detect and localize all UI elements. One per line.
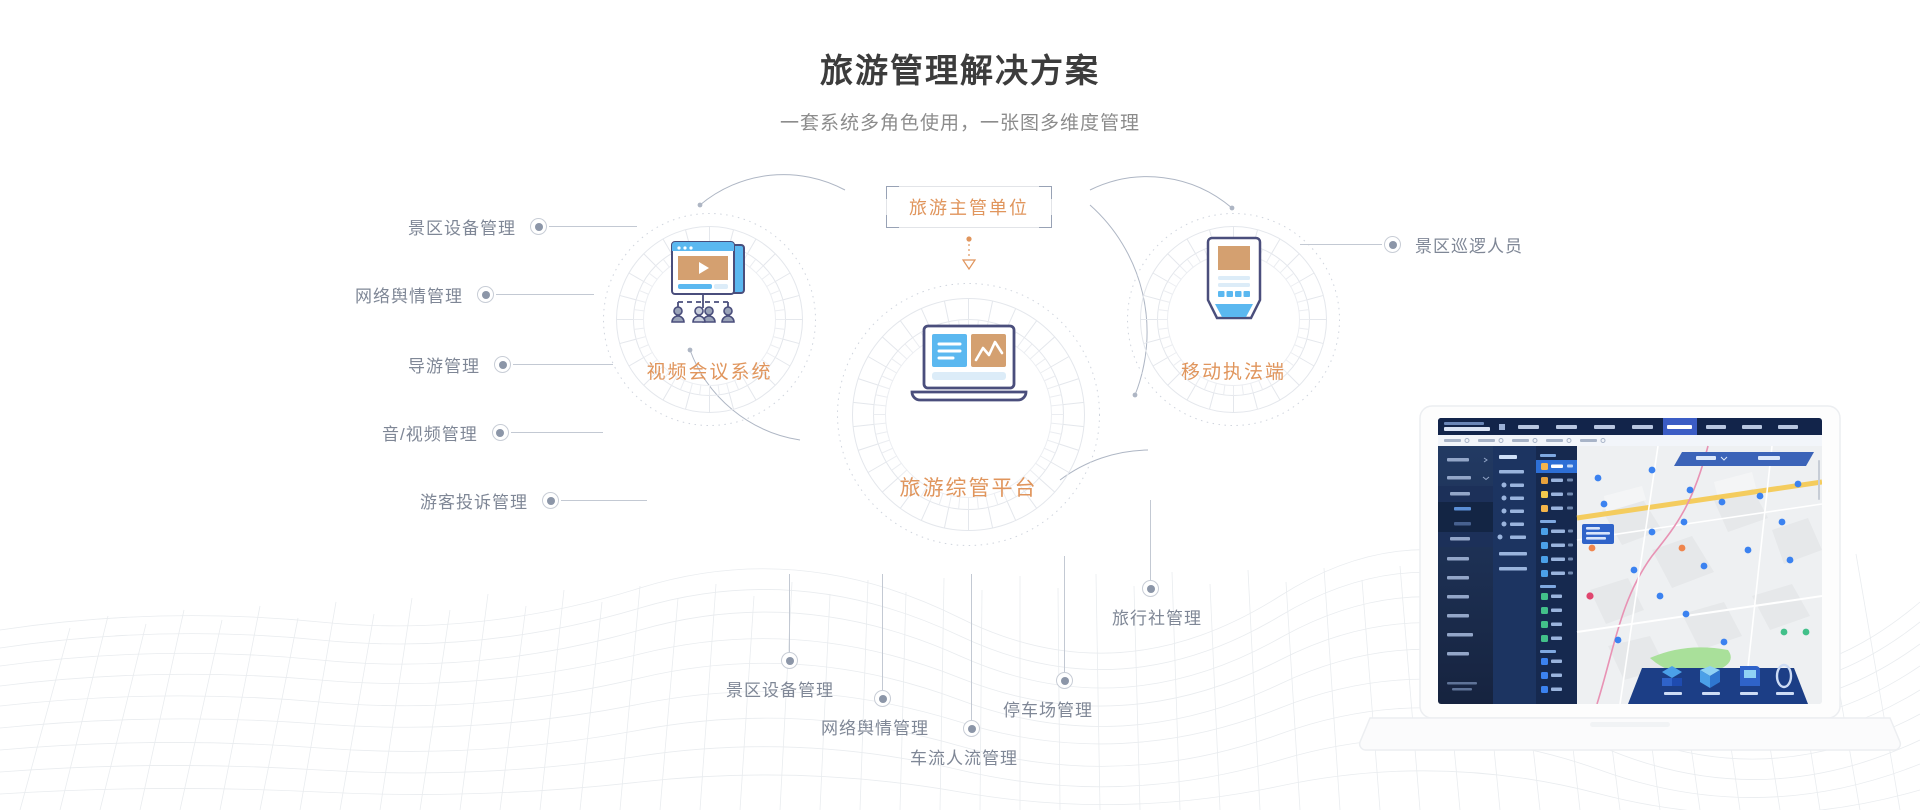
node-left-4[interactable]: 游客投诉管理 — [420, 488, 647, 513]
laptop-dashboard-icon — [908, 322, 1030, 414]
laptop-product-mockup — [1352, 400, 1908, 768]
node-label: 导游管理 — [408, 352, 480, 377]
hub-video-conference: 视频会议系统 — [602, 212, 817, 427]
laptop-trackpad-notch — [1590, 722, 1670, 727]
node-dot-icon — [494, 356, 511, 373]
leader-line — [496, 294, 594, 295]
leader-line — [549, 226, 637, 227]
dashboard-sidebar — [1438, 446, 1493, 704]
solution-diagram-page: 旅游管理解决方案 一套系统多角色使用，一张图多维度管理 旅游主管单位 — [0, 0, 1920, 810]
leader-line-vertical — [971, 574, 972, 720]
node-left-1[interactable]: 网络舆情管理 — [355, 282, 594, 307]
node-dot-icon — [1384, 236, 1401, 253]
node-label: 停车场管理 — [1003, 696, 1093, 721]
hub-tourism-platform: 旅游综管平台 — [836, 282, 1101, 547]
node-bottom-4[interactable]: 旅行社管理 — [1142, 500, 1262, 610]
leader-line-vertical — [1150, 500, 1151, 580]
node-label: 网络舆情管理 — [355, 282, 463, 307]
leader-line-vertical — [882, 574, 883, 690]
video-window-icon — [664, 240, 756, 326]
leader-line-vertical — [789, 574, 790, 652]
node-dot-icon — [492, 424, 509, 441]
node-dot-icon — [874, 690, 891, 707]
node-left-2[interactable]: 导游管理 — [408, 352, 613, 377]
node-label: 车流人流管理 — [910, 744, 1018, 769]
leader-line — [513, 364, 613, 365]
node-dot-icon — [963, 720, 980, 737]
node-label: 景区设备管理 — [726, 676, 834, 701]
hub-caption-mobile-enforcement: 移动执法端 — [1126, 357, 1341, 384]
node-label: 网络舆情管理 — [821, 714, 929, 739]
node-left-3[interactable]: 音/视频管理 — [382, 420, 603, 445]
handheld-terminal-icon — [1198, 234, 1270, 334]
leader-line — [1300, 244, 1382, 245]
node-dot-icon — [1142, 580, 1159, 597]
page-title: 旅游管理解决方案 — [0, 44, 1920, 92]
node-right-0[interactable]: 景区巡逻人员 — [1300, 232, 1523, 257]
hub-caption-video-conference: 视频会议系统 — [602, 357, 817, 384]
dashboard-screenshot — [1438, 418, 1822, 704]
node-label: 景区巡逻人员 — [1415, 232, 1523, 257]
node-label: 游客投诉管理 — [420, 488, 528, 513]
leader-line — [561, 500, 647, 501]
node-dot-icon — [1056, 672, 1073, 689]
node-left-0[interactable]: 景区设备管理 — [408, 214, 637, 239]
hub-caption-tourism-platform: 旅游综管平台 — [836, 472, 1101, 502]
leader-line-vertical — [1064, 556, 1065, 672]
node-label: 景区设备管理 — [408, 214, 516, 239]
node-dot-icon — [781, 652, 798, 669]
node-label: 旅行社管理 — [1112, 604, 1202, 629]
node-dot-icon — [477, 286, 494, 303]
leader-line — [511, 432, 603, 433]
map-control-bar — [1674, 452, 1814, 466]
node-label: 音/视频管理 — [382, 420, 478, 445]
page-subtitle: 一套系统多角色使用，一张图多维度管理 — [0, 108, 1920, 135]
node-dot-icon — [530, 218, 547, 235]
node-dot-icon — [542, 492, 559, 509]
